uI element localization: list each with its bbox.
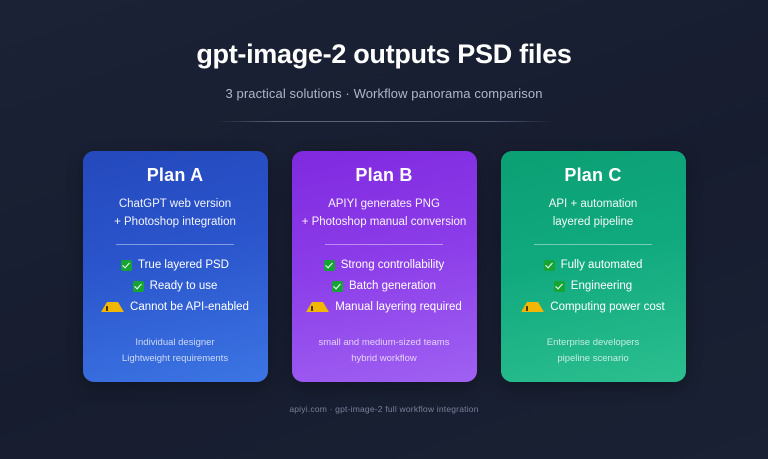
footer-attribution: apiyi.com · gpt-image-2 full workflow in…: [0, 404, 768, 414]
check-icon: [332, 281, 343, 292]
check-icon: [544, 260, 555, 271]
feature-label: Batch generation: [349, 280, 436, 294]
plan-card-title: Plan C: [564, 165, 621, 187]
plan-card-subtitle: APIYI generates PNG + Photoshop manual c…: [302, 196, 467, 232]
feature-row: Computing power cost: [521, 301, 664, 315]
check-icon: [133, 281, 144, 292]
plan-card-divider: [325, 244, 443, 245]
plan-card-subtitle-line1: APIYI generates PNG: [302, 196, 467, 214]
check-icon: [554, 281, 565, 292]
plan-card-b[interactable]: Plan B APIYI generates PNG + Photoshop m…: [292, 151, 477, 382]
warning-icon: [521, 302, 544, 312]
plan-card-list: Plan A ChatGPT web version + Photoshop i…: [0, 151, 768, 382]
slide-header: gpt-image-2 outputs PSD files 3 practica…: [0, 0, 768, 122]
plan-card-subtitle-line2: + Photoshop manual conversion: [302, 214, 467, 232]
plan-card-divider: [534, 244, 652, 245]
feature-label: Ready to use: [150, 280, 218, 294]
plan-card-divider: [116, 244, 234, 245]
feature-row: Cannot be API-enabled: [101, 301, 249, 315]
feature-row: Engineering: [554, 280, 632, 294]
plan-card-subtitle: API + automation layered pipeline: [549, 196, 638, 232]
plan-card-tagline-line2: hybrid workflow: [292, 351, 477, 366]
plan-card-subtitle-line2: + Photoshop integration: [114, 214, 236, 232]
check-icon: [121, 260, 132, 271]
plan-card-features: Fully automated Engineering Computing po…: [511, 259, 676, 314]
plan-card-subtitle-line2: layered pipeline: [549, 214, 638, 232]
plan-card-title: Plan B: [355, 165, 412, 187]
slide-root: gpt-image-2 outputs PSD files 3 practica…: [0, 0, 768, 459]
feature-label: Strong controllability: [341, 259, 445, 273]
check-icon: [324, 260, 335, 271]
plan-card-a[interactable]: Plan A ChatGPT web version + Photoshop i…: [83, 151, 268, 382]
plan-card-tagline-line1: Enterprise developers: [501, 335, 686, 350]
plan-card-tagline-line1: Individual designer: [83, 335, 268, 350]
feature-label: Cannot be API-enabled: [130, 301, 249, 315]
plan-card-subtitle-line1: API + automation: [549, 196, 638, 214]
warning-icon: [101, 302, 124, 312]
feature-row: Strong controllability: [324, 259, 445, 273]
page-title: gpt-image-2 outputs PSD files: [0, 40, 768, 70]
feature-label: Engineering: [571, 280, 632, 294]
header-divider: [216, 121, 552, 122]
plan-card-subtitle-line1: ChatGPT web version: [114, 196, 236, 214]
feature-row: Ready to use: [133, 280, 218, 294]
plan-card-features: True layered PSD Ready to use Cannot be …: [93, 259, 258, 314]
feature-row: True layered PSD: [121, 259, 229, 273]
feature-row: Batch generation: [332, 280, 436, 294]
plan-card-tagline-line2: pipeline scenario: [501, 351, 686, 366]
feature-label: True layered PSD: [138, 259, 229, 273]
plan-card-tagline: small and medium-sized teams hybrid work…: [292, 335, 477, 365]
feature-label: Fully automated: [561, 259, 643, 273]
feature-label: Computing power cost: [550, 301, 664, 315]
feature-row: Fully automated: [544, 259, 643, 273]
plan-card-c[interactable]: Plan C API + automation layered pipeline…: [501, 151, 686, 382]
feature-label: Manual layering required: [335, 301, 462, 315]
warning-icon: [306, 302, 329, 312]
page-subtitle: 3 practical solutions · Workflow panoram…: [0, 86, 768, 101]
plan-card-features: Strong controllability Batch generation …: [302, 259, 467, 314]
plan-card-tagline: Enterprise developers pipeline scenario: [501, 335, 686, 365]
plan-card-title: Plan A: [147, 165, 204, 187]
plan-card-subtitle: ChatGPT web version + Photoshop integrat…: [114, 196, 236, 232]
feature-row: Manual layering required: [306, 301, 462, 315]
plan-card-tagline: Individual designer Lightweight requirem…: [83, 335, 268, 365]
plan-card-tagline-line2: Lightweight requirements: [83, 351, 268, 366]
plan-card-tagline-line1: small and medium-sized teams: [292, 335, 477, 350]
